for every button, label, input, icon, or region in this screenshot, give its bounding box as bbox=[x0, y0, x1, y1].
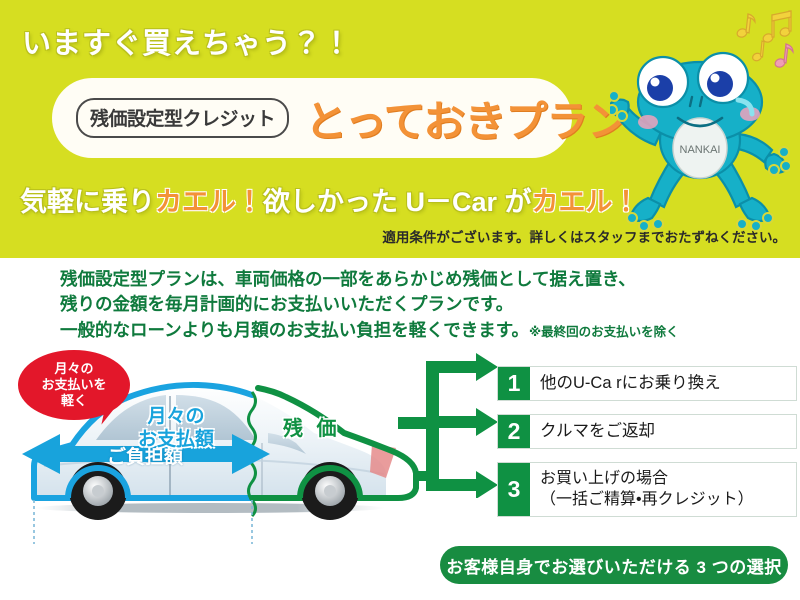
option-item-1[interactable]: 1 他のU-Ca rにお乗り換え bbox=[497, 366, 797, 401]
credit-type-badge: 残価設定型クレジット bbox=[76, 98, 289, 138]
option-text-2: クルマをご返却 bbox=[530, 415, 796, 448]
choices-banner: お客様自身でお選びいただける 3 つの選択 bbox=[440, 546, 788, 584]
catchphrase-heading: いますぐ買えちゃう？！ bbox=[22, 20, 352, 62]
option-number-1: 1 bbox=[498, 367, 530, 400]
lead-line-3: 一般的なローンよりも月額のお支払い負担を軽くできます。 bbox=[60, 320, 529, 340]
catch2-highlight1: カエル！ bbox=[155, 187, 263, 217]
option-text-3-line2: （一括ご精算•再クレジット） bbox=[540, 490, 754, 510]
label-monthly-payment: 月々の お支払額 bbox=[138, 406, 214, 452]
option-text-1: 他のU-Ca rにお乗り換え bbox=[530, 367, 796, 400]
option-number-2: 2 bbox=[498, 415, 530, 448]
option-item-3[interactable]: 3 お買い上げの場合 （一括ご精算•再クレジット） bbox=[497, 462, 797, 517]
option-text-3-line1: お買い上げの場合 bbox=[540, 469, 754, 489]
main-content: 残価設定型プランは、車両価格の一部をあらかじめ残価として据え置き、 残りの金額を… bbox=[0, 258, 800, 600]
lead-footnote: ※最終回のお支払いを除く bbox=[529, 325, 679, 339]
label-residual-value: 残 価 bbox=[283, 412, 341, 441]
frog-mascot-icon: NANKAI bbox=[610, 30, 790, 245]
catch2-part2: 欲しかった U－Car が bbox=[263, 187, 532, 217]
option-item-2[interactable]: 2 クルマをご返却 bbox=[497, 414, 797, 449]
advertisement-page: いますぐ買えちゃう？！ 残価設定型クレジット とっておきプラン 気軽に乗りカエル… bbox=[0, 0, 800, 600]
monthly-payment-bubble: 月々の お支払いを 軽く bbox=[18, 350, 130, 420]
header-banner: いますぐ買えちゃう？！ 残価設定型クレジット とっておきプラン 気軽に乗りカエル… bbox=[0, 0, 800, 258]
catch2-part1: 気軽に乗り bbox=[20, 187, 155, 217]
lead-paragraph: 残価設定型プランは、車両価格の一部をあらかじめ残価として据え置き、 残りの金額を… bbox=[60, 267, 679, 343]
lead-line-2: 残りの金額を毎月計画的にお支払いいただくプランです。 bbox=[60, 292, 679, 317]
plan-title-pill: 残価設定型クレジット とっておきプラン bbox=[52, 78, 572, 158]
lead-line-1: 残価設定型プランは、車両価格の一部をあらかじめ残価として据え置き、 bbox=[60, 267, 679, 292]
plan-name-title: とっておきプラン bbox=[305, 88, 628, 149]
option-text-3: お買い上げの場合 （一括ご精算•再クレジット） bbox=[530, 463, 796, 516]
options-list: 1 他のU-Ca rにお乗り換え 2 クルマをご返却 3 お買い上げの場合 （一… bbox=[497, 366, 797, 530]
svg-text:NANKAI: NANKAI bbox=[680, 144, 721, 156]
secondary-catchphrase: 気軽に乗りカエル！欲しかった U－Car がカエル！ bbox=[20, 180, 640, 219]
bubble-text: 月々の お支払いを 軽く bbox=[41, 361, 106, 409]
branch-arrows-icon bbox=[398, 353, 508, 498]
option-number-3: 3 bbox=[498, 463, 530, 516]
